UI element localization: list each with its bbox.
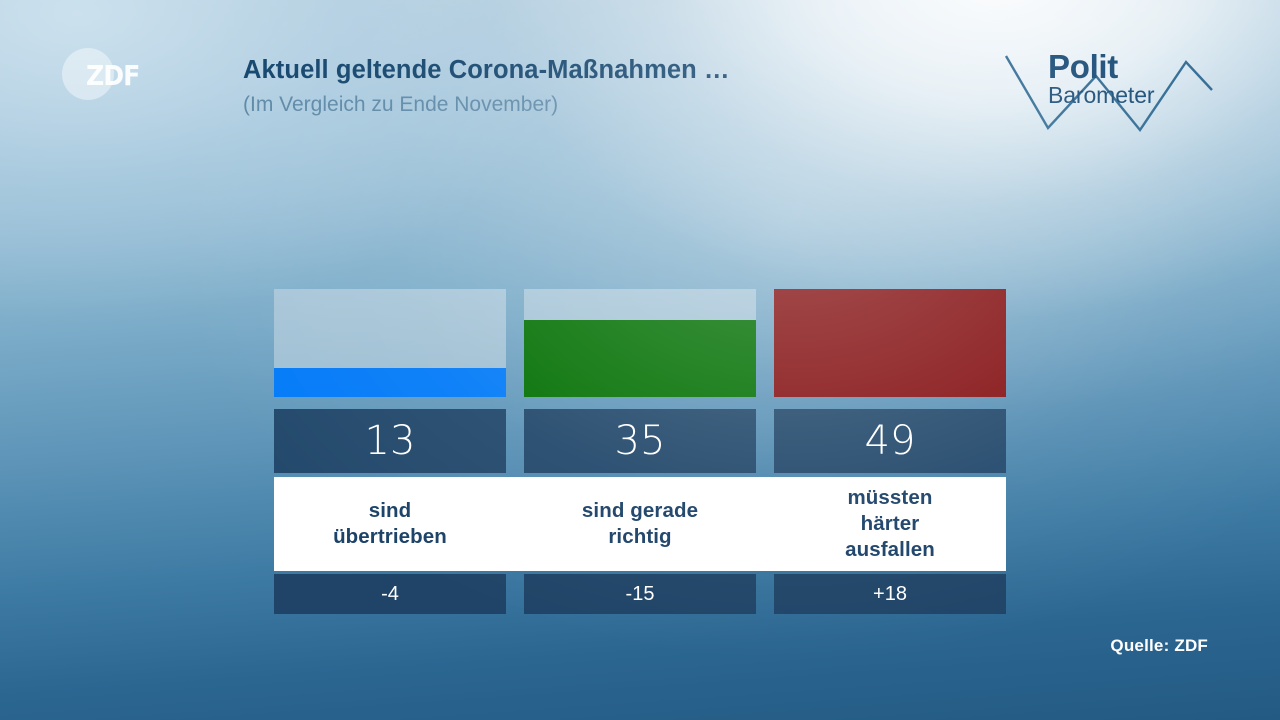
zdf-logo: ZDF [58, 46, 162, 102]
bar-track-1 [524, 289, 756, 397]
bar-fill-0 [274, 368, 506, 397]
category-label-band: sind übertrieben sind gerade richtig müs… [274, 477, 1006, 571]
bar-change-0: -4 [381, 584, 399, 604]
change-band-2: +18 [774, 574, 1006, 614]
category-label-0-line-1: übertrieben [333, 524, 447, 550]
category-label-0-line-0: sind [369, 498, 412, 524]
category-label-1-line-1: richtig [608, 524, 671, 550]
bar-track-0 [274, 289, 506, 397]
page-subtitle: (Im Vergleich zu Ende November) [243, 93, 983, 117]
category-label-2-line-2: ausfallen [845, 537, 935, 563]
zdf-logo-text: ZDF [86, 59, 139, 92]
bar-fill-1 [524, 320, 756, 397]
bar-change-1: -15 [626, 584, 655, 604]
brand-line-2: Barometer [1048, 84, 1154, 107]
change-band-0: -4 [274, 574, 506, 614]
category-label-2-line-0: müssten [847, 485, 932, 511]
bar-chart: 13 -4 35 -15 49 [274, 289, 1006, 614]
bar-fill-2 [774, 289, 1006, 397]
change-band-1: -15 [524, 574, 756, 614]
bar-value-2: 49 [865, 421, 916, 461]
bar-value-0: 13 [365, 421, 416, 461]
infographic-stage: ZDF Aktuell geltende Corona-Maßnahmen … … [0, 0, 1280, 720]
category-label-2: müssten härter ausfallen [774, 477, 1006, 571]
politbarometer-logo: Polit Barometer [1000, 28, 1215, 140]
page-title: Aktuell geltende Corona-Maßnahmen … [243, 56, 983, 85]
source-label: Quelle: ZDF [1110, 636, 1208, 656]
politbarometer-wordmark: Polit Barometer [1048, 50, 1154, 107]
bar-track-2 [774, 289, 1006, 397]
category-label-1: sind gerade richtig [524, 477, 756, 571]
brand-line-1: Polit [1048, 50, 1154, 83]
category-label-1-line-0: sind gerade [582, 498, 698, 524]
bar-value-1: 35 [615, 421, 666, 461]
value-band-2: 49 [774, 409, 1006, 473]
value-band-0: 13 [274, 409, 506, 473]
category-label-0: sind übertrieben [274, 477, 506, 571]
bar-change-2: +18 [873, 584, 907, 604]
value-band-1: 35 [524, 409, 756, 473]
header-block: Aktuell geltende Corona-Maßnahmen … (Im … [243, 56, 983, 117]
category-label-2-line-1: härter [861, 511, 920, 537]
